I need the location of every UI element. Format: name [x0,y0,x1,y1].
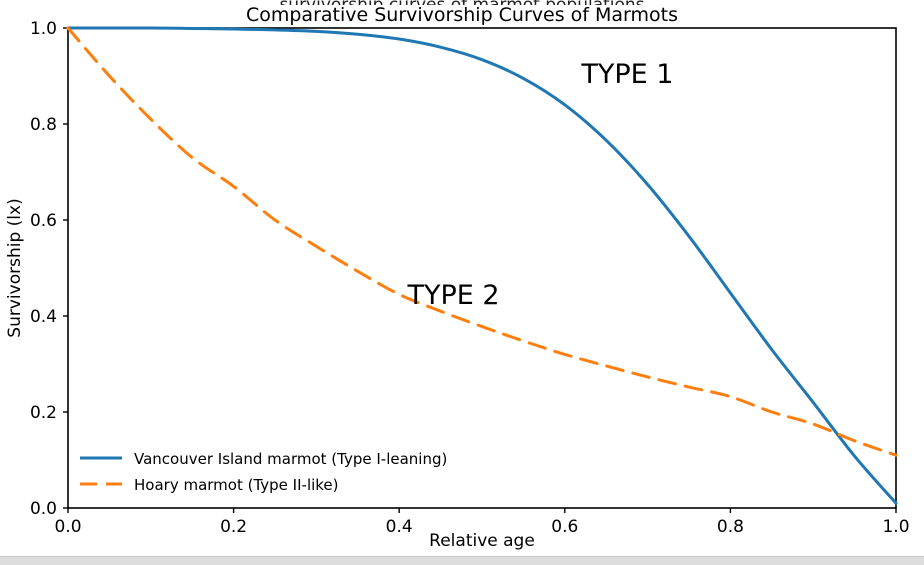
y-axis-title: Survivorship (lx) [5,198,25,337]
legend-label-2: Hoary marmot (Type II-like) [134,476,339,494]
y-tick-label: 0.4 [30,307,57,327]
y-tick-label: 0.6 [30,211,57,231]
annotation-2: TYPE 2 [406,280,499,311]
x-tick-label: 0.6 [551,517,578,537]
legend-label-1: Vancouver Island marmot (Type I-leaning) [134,450,447,468]
y-tick-label: 1.0 [30,19,57,39]
clipped-header-text: survivorship curves of marmot population… [0,0,924,5]
y-tick-label: 0.0 [30,499,57,519]
x-tick-label: 0.4 [386,517,413,537]
chart-background [0,0,924,556]
x-tick-label: 0.0 [54,517,81,537]
x-tick-label: 1.0 [882,517,909,537]
chart-figure: survivorship curves of marmot population… [0,0,924,556]
x-tick-label: 0.2 [220,517,247,537]
annotation-1: TYPE 1 [580,59,673,90]
y-tick-label: 0.8 [30,115,57,135]
survivorship-curves-chart: Comparative Survivorship Curves of Marmo… [0,0,924,556]
y-tick-label: 0.2 [30,403,57,423]
x-tick-label: 0.8 [717,517,744,537]
x-axis-title: Relative age [429,531,535,551]
chart-title: Comparative Survivorship Curves of Marmo… [246,4,678,26]
